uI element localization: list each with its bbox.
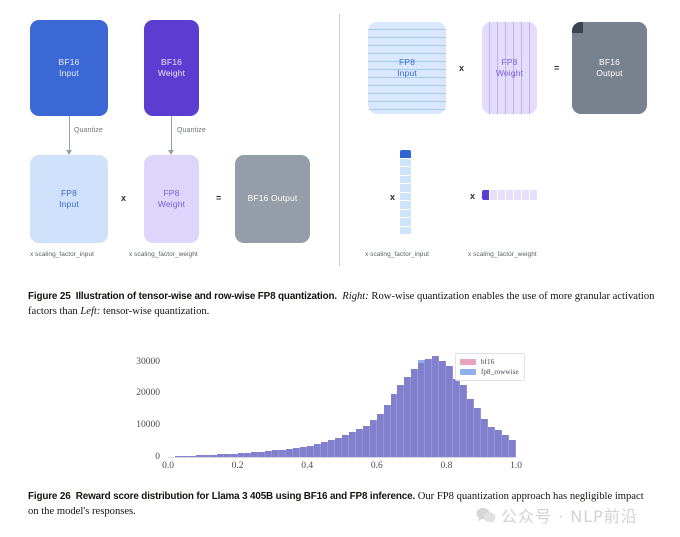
watermark: 公众号 · NLP前沿 [476,503,638,527]
block-fp8-weight-rowwise: FP8 Weight [482,22,537,114]
histogram-bar [328,440,335,457]
histogram-bar-overlap [425,359,431,457]
quantize-arrow-weight [171,116,172,154]
x-axis-ticks: 0.00.20.40.60.81.0 [168,461,516,477]
watermark-text: 公众号 · NLP前沿 [501,503,638,527]
histogram-bar-overlap [384,405,390,457]
quantize-arrow-input [69,116,70,154]
histogram-bar-overlap [377,414,383,457]
histogram-bar [488,427,495,457]
histogram-bar [342,435,349,457]
histogram-bar [286,449,293,457]
block-fp8-input-tensorwise: FP8 Input [30,155,108,243]
y-axis-tick-label: 10000 [104,420,160,430]
histogram-bar-overlap [404,377,410,458]
vector-cell [400,167,411,176]
histogram-bar [349,432,356,457]
vector-cell [530,190,538,200]
block-bf16-input-line2: Input [59,68,79,78]
histogram-bar-overlap [488,427,494,457]
equals-symbol-left: = [216,193,221,203]
histogram-bar [446,366,453,457]
block-r-bf16-output-line1: BF16 [599,57,620,67]
histogram-bar-overlap [300,447,306,457]
equals-symbol-right: = [554,63,559,73]
histogram-bar [495,430,502,457]
block-bf16-weight-line1: BF16 [161,57,182,67]
histogram-bar-overlap [509,440,515,457]
vector-cell [506,190,514,200]
figure-25-caption-end: tensor-wise quantization. [100,306,209,317]
histogram-bar-overlap [342,435,348,457]
wechat-icon [476,507,496,524]
vector-cell [400,176,411,185]
figure-25-diagram: BF16 Input BF16 Weight Quantize Quantize… [0,0,680,278]
block-bf16-input-line1: BF16 [59,57,80,67]
histogram-bar-overlap [356,429,362,457]
quantize-label-weight: Quantize [177,127,206,134]
legend-swatch-bf16 [460,359,476,365]
scaling-factor-weight-label-left: x scaling_factor_weight [129,251,198,258]
scaling-factor-input-label-right: x scaling_factor_input [365,251,429,258]
figure-26-caption-bold: Reward score distribution for Llama 3 40… [76,491,415,502]
legend-label-bf16: bf16 [481,358,494,366]
histogram-bar [356,429,363,457]
histogram-bar [481,419,488,457]
scaling-factor-weight-label-right: x scaling_factor_weight [468,251,537,258]
y-axis-tick-label: 30000 [104,357,160,367]
histogram-bar [460,385,467,457]
block-bf16-output-tensorwise: BF16 Output [235,155,310,243]
figure-25-caption: Figure 25 Illustration of tensor-wise an… [28,289,656,320]
block-fp8-input-line2: Input [59,199,79,209]
block-fp8-weight-tensorwise: FP8 Weight [144,155,199,243]
histogram-bar [377,414,384,457]
histogram-bar [384,405,391,457]
block-r-fp8-input-line2: Input [397,68,417,78]
figure-25-label: Figure 25 [28,291,71,302]
histogram-bar-overlap [363,426,369,458]
histogram-bar [418,360,425,457]
vector-cell [400,150,411,159]
histogram-bar [335,438,342,457]
histogram-bar-overlap [286,449,292,457]
histogram-bar-overlap [418,363,424,457]
multiply-symbol-input-vector: x [390,192,395,202]
y-axis-ticks: 0100002000030000 [104,352,160,457]
histogram-bar [411,369,418,457]
x-axis-tick-label: 0.4 [301,461,313,471]
histogram-bar-overlap [397,385,403,457]
histogram-bar-overlap [439,361,445,457]
multiply-symbol-right: x [459,63,464,73]
figure-26-chart: 0100002000030000 0.00.20.40.60.81.0 bf16… [0,340,680,480]
vector-cell [400,201,411,210]
block-bf16-input: BF16 Input [30,20,108,116]
corner-mark-icon [572,22,583,33]
block-r-fp8-weight-line1: FP8 [501,57,517,67]
figure-25-italic-right: Right: [342,291,368,302]
histogram-bar [397,385,404,457]
vector-cell [490,190,498,200]
vector-cell [400,184,411,193]
histogram-bar [509,440,516,457]
scaling-factor-input-label-left: x scaling_factor_input [30,251,94,258]
histogram-bar [370,420,377,457]
histogram-bar [391,394,398,457]
vector-cell [400,218,411,227]
histogram-bar [300,447,307,457]
block-bf16-weight-line2: Weight [158,68,185,78]
legend-item[interactable]: fp8_rowwise [460,367,519,377]
vector-cell [400,227,411,236]
histogram-bar-overlap [335,438,341,457]
histogram-bar-overlap [321,442,327,457]
histogram-bar [432,356,439,458]
block-r-bf16-output-line2: Output [596,68,622,78]
histogram-bar [279,450,286,457]
histogram-bar-overlap [495,430,501,457]
vector-cell [498,190,506,200]
multiply-symbol-weight-vector: x [470,191,475,201]
x-axis-tick-label: 0.2 [232,461,244,471]
histogram-bar [272,450,279,457]
panel-divider [339,14,340,266]
figure-25-caption-bold: Illustration of tensor-wise and row-wise… [76,291,337,302]
block-bf16-output-rowwise: BF16 Output [572,22,647,114]
y-axis-tick-label: 0 [104,452,160,462]
histogram-bar [363,426,370,458]
quantize-label-input: Quantize [74,127,103,134]
vector-cell [514,190,522,200]
x-axis-tick-label: 0.6 [371,461,383,471]
block-bf16-weight: BF16 Weight [144,20,199,116]
histogram-bar [453,379,460,457]
block-fp8-weight-line2: Weight [158,199,185,209]
block-fp8-weight-line1: FP8 [163,188,179,198]
legend-swatch-fp8-rowwise [460,369,476,375]
block-r-fp8-input-line1: FP8 [399,57,415,67]
histogram-bar [314,444,321,457]
histogram-bar-overlap [446,366,452,457]
x-axis-tick-label: 0.8 [440,461,452,471]
histogram-bar [321,442,328,457]
histogram-bar-overlap [370,420,376,457]
histogram-bar-overlap [411,369,417,457]
histogram-bar-overlap [293,448,299,457]
histogram-bar-overlap [279,450,285,457]
histogram-bar-overlap [432,356,438,458]
histogram-bar [404,377,411,458]
x-axis-tick-label: 0.0 [162,461,174,471]
histogram-bar-overlap [474,408,480,457]
legend-item[interactable]: bf16 [460,357,519,367]
figure-26-label: Figure 26 [28,491,71,502]
vector-cell [482,190,490,200]
x-axis-line [168,457,516,458]
histogram-bar [502,435,509,457]
histogram-bar [307,446,314,457]
histogram-bar-overlap [272,450,278,457]
x-axis-tick-label: 1.0 [510,461,522,471]
histogram-bar-overlap [481,419,487,457]
histogram-bar [293,448,300,457]
histogram-bar [425,359,432,457]
vector-cell [400,193,411,202]
histogram-bar-overlap [502,435,508,457]
scaling-vector-weight [482,190,538,200]
histogram-bar-overlap [453,379,459,457]
block-bf16-output-label: BF16 Output [248,193,298,204]
histogram-bar-overlap [467,399,473,457]
block-r-fp8-weight-line2: Weight [496,68,523,78]
y-axis-tick-label: 20000 [104,388,160,398]
histogram-bar-overlap [328,440,334,457]
vector-cell [400,159,411,168]
histogram-bar-overlap [314,444,320,457]
chart-legend: bf16 fp8_rowwise [455,353,525,381]
block-fp8-input-line1: FP8 [61,188,77,198]
histogram-bar-overlap [349,432,355,457]
vector-cell [522,190,530,200]
histogram-bar [467,399,474,457]
block-fp8-input-rowwise: FP8 Input [368,22,446,114]
multiply-symbol-left: x [121,193,126,203]
figure-25-italic-left: Left: [80,306,100,317]
histogram-bar-overlap [391,394,397,457]
histogram-bar-overlap [460,385,466,457]
legend-label-fp8-rowwise: fp8_rowwise [481,368,519,376]
vector-cell [400,210,411,219]
histogram-bar [474,408,481,457]
scaling-vector-input [400,150,411,235]
histogram-bar [439,361,446,457]
histogram-bar-overlap [307,446,313,457]
